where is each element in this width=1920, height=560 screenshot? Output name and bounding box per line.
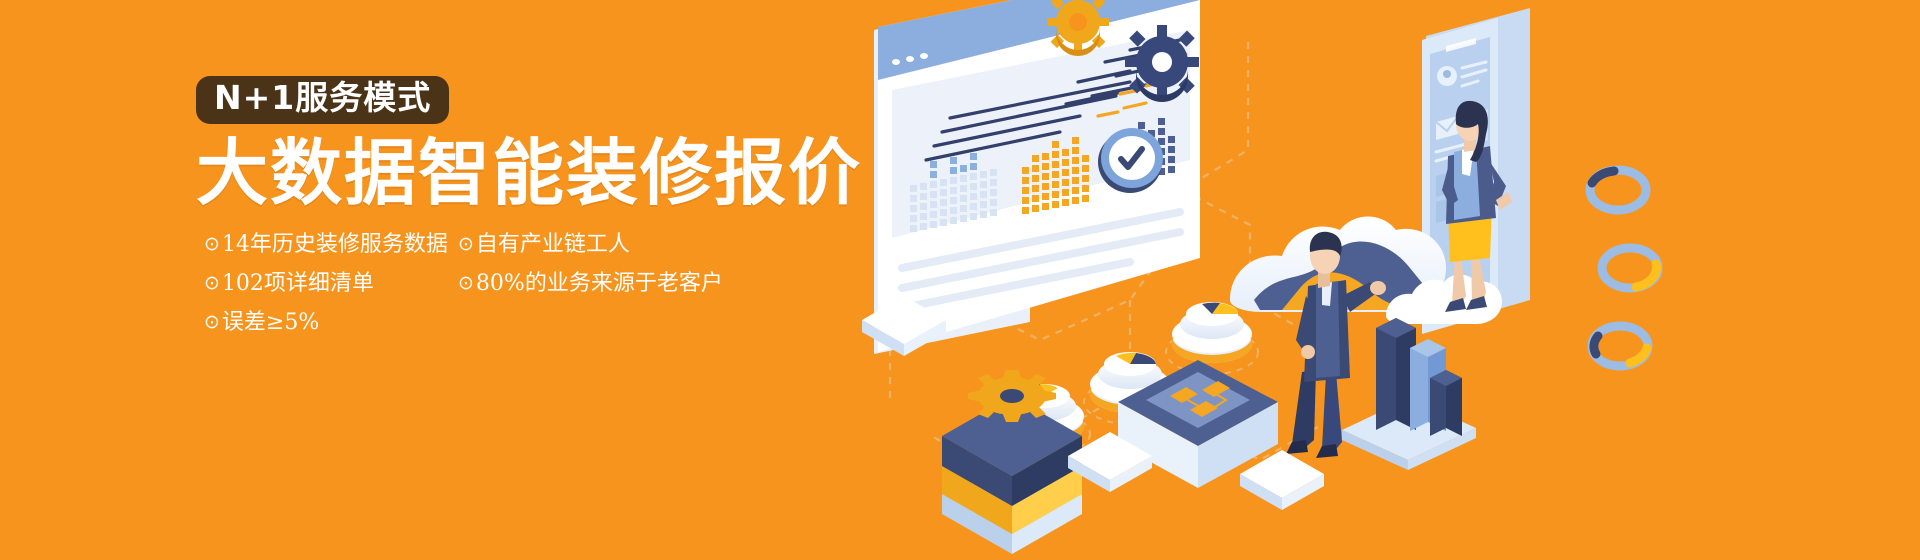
list-item-label: 80%的业务来源于老客户	[476, 273, 723, 295]
ring-shapes	[1590, 170, 1658, 366]
gear-navy	[1125, 25, 1199, 102]
circled-dot-icon: ⊙	[458, 235, 474, 254]
page-title: 大数据智能装修报价	[196, 135, 916, 213]
list-item: ⊙ 14年历史装修服务数据	[204, 234, 474, 256]
list-item: ⊙ 102项详细清单	[204, 273, 474, 295]
list-item-label: 14年历史装修服务数据	[222, 234, 448, 256]
list-item-label: 102项详细清单	[222, 273, 374, 295]
bar-chart-columns	[1342, 318, 1476, 470]
marketing-banner: N+1服务模式 大数据智能装修报价 ⊙ 14年历史装修服务数据 ⊙ 102项详细…	[0, 0, 1920, 560]
circled-dot-icon: ⊙	[458, 274, 474, 293]
service-model-badge: N+1服务模式	[196, 76, 449, 124]
circled-dot-icon: ⊙	[204, 274, 220, 293]
bullet-column-right: ⊙ 自有产业链工人 ⊙ 80%的业务来源于老客户	[458, 234, 788, 312]
isometric-data-illustration	[830, 0, 1920, 560]
banner-text-block: N+1服务模式 大数据智能装修报价 ⊙ 14年历史装修服务数据 ⊙ 102项详细…	[196, 76, 916, 234]
circled-dot-icon: ⊙	[204, 313, 220, 332]
list-item: ⊙ 误差≥5%	[204, 312, 474, 334]
list-item: ⊙ 自有产业链工人	[458, 234, 788, 256]
list-item-label: 自有产业链工人	[476, 234, 630, 256]
list-item-label: 误差≥5%	[222, 312, 319, 334]
list-item: ⊙ 80%的业务来源于老客户	[458, 273, 788, 295]
bullet-column-left: ⊙ 14年历史装修服务数据 ⊙ 102项详细清单 ⊙ 误差≥5%	[204, 234, 474, 351]
circled-dot-icon: ⊙	[204, 235, 220, 254]
